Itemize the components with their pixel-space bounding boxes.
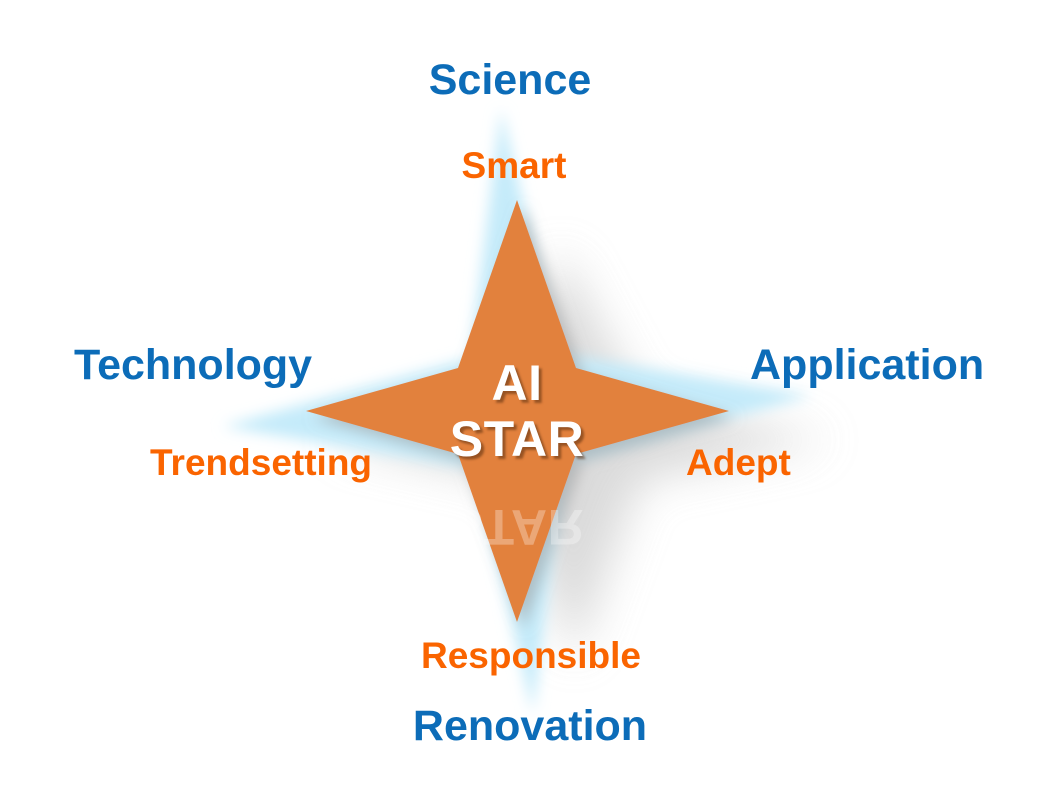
label-technology: Technology <box>74 344 312 387</box>
label-smart: Smart <box>462 147 567 184</box>
label-responsible: Responsible <box>421 637 641 674</box>
label-application: Application <box>750 344 984 387</box>
inner-orange-star <box>306 200 729 622</box>
label-renovation: Renovation <box>413 705 647 748</box>
label-trendsetting: Trendsetting <box>150 444 372 481</box>
label-science: Science <box>429 59 592 102</box>
label-adept: Adept <box>686 444 791 481</box>
slide-canvas: STAR AI STAR Science Technology Applicat… <box>0 0 1063 807</box>
star-diagram-graphic <box>0 0 1063 807</box>
